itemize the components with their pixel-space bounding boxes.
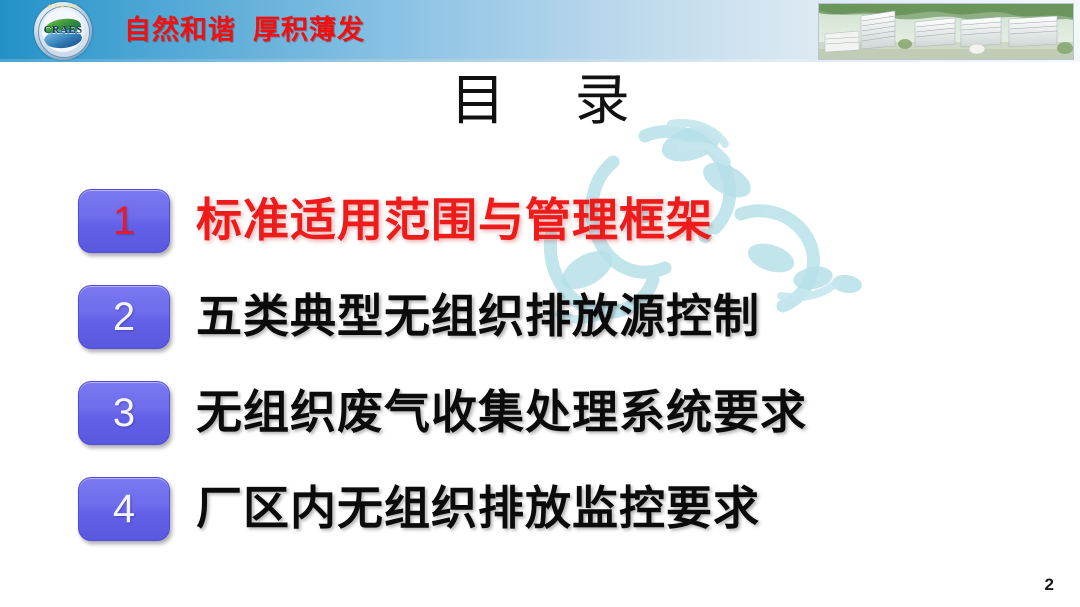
toc-number-badge: 3 [78, 381, 170, 445]
craes-logo-icon: ★★★★★ CRAES [34, 2, 92, 60]
page-number: 2 [1045, 575, 1054, 595]
toc-number-badge: 1 [78, 189, 170, 253]
campus-aerial-photo [818, 3, 1074, 60]
toc-label[interactable]: 标准适用范围与管理框架 [196, 186, 713, 254]
list-item[interactable]: 2 五类典型无组织排放源控制 [0, 282, 1080, 378]
page-title: 目 录 [0, 68, 1080, 134]
logo-wordmark: CRAES [42, 24, 84, 36]
slide: ★★★★★ CRAES 自然和谐 厚积薄发 [0, 0, 1080, 607]
list-item[interactable]: 3 无组织废气收集处理系统要求 [0, 378, 1080, 474]
logo-inner-disc: CRAES [42, 10, 84, 52]
toc-label[interactable]: 无组织废气收集处理系统要求 [196, 378, 807, 446]
toc-label[interactable]: 厂区内无组织排放监控要求 [196, 474, 760, 542]
toc-number-badge: 2 [78, 285, 170, 349]
header-slogan: 自然和谐 厚积薄发 [124, 13, 365, 47]
toc-number: 2 [79, 286, 169, 348]
toc-number: 4 [79, 478, 169, 540]
toc-number: 3 [79, 382, 169, 444]
toc-number-badge: 4 [78, 477, 170, 541]
list-item[interactable]: 1 标准适用范围与管理框架 [0, 186, 1080, 282]
campus-photo-graphic [819, 4, 1073, 59]
list-item[interactable]: 4 厂区内无组织排放监控要求 [0, 474, 1080, 570]
toc-label[interactable]: 五类典型无组织排放源控制 [196, 282, 760, 350]
toc-number: 1 [79, 190, 169, 252]
table-of-contents: 1 标准适用范围与管理框架 2 五类典型无组织排放源控制 3 无组织废气收集处理… [0, 186, 1080, 570]
